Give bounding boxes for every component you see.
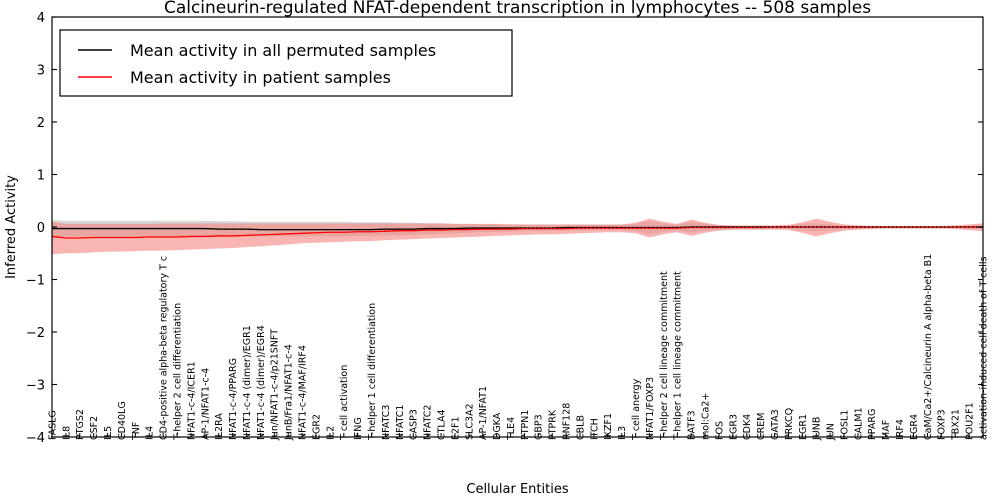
x-tick-label: IL3: [617, 426, 628, 440]
x-tick-label: CD4-positive alpha-beta regulatory T c: [159, 256, 170, 440]
x-tick-label: NFAT1/FOXP3: [645, 377, 656, 440]
x-tick-label: activation-induced cell death of T cells: [978, 257, 989, 440]
y-tick-label: 2: [37, 116, 45, 131]
x-axis-label: Cellular Entities: [466, 482, 568, 497]
x-tick-label: AP-1/NFAT1-c-4: [200, 368, 211, 440]
x-tick-label: GATA3: [770, 409, 781, 440]
y-tick-label: −1: [26, 274, 45, 289]
x-tick-label: NFAT1-c-4/PPARG: [228, 358, 239, 440]
x-tick-label: CALM1: [853, 407, 864, 440]
x-tick-label: FOXP3: [937, 409, 948, 440]
y-axis-label: Inferred Activity: [4, 175, 19, 279]
x-tick-label: GBP3: [534, 414, 545, 440]
x-tick-label: IL8: [61, 426, 72, 440]
x-tick-label: DGKA: [492, 412, 503, 440]
y-tick-label: −2: [26, 326, 45, 341]
x-tick-label: IL2: [325, 426, 336, 440]
x-tick-label: T cell activation: [339, 365, 350, 441]
x-tick-label: PPARG: [867, 409, 878, 440]
x-tick-label: NFATC2: [423, 405, 434, 440]
x-tick-label: BATF3: [687, 410, 698, 440]
x-tick-label: T-helper 2 cell lineage commitment: [659, 271, 670, 441]
x-tick-label: CDK4: [742, 414, 753, 440]
x-tick-label: CD40LG: [117, 401, 128, 440]
legend-label: Mean activity in all permuted samples: [130, 41, 436, 60]
x-tick-label: EGR4: [909, 414, 920, 440]
x-tick-label: T-helper 1 cell differentiation: [367, 303, 378, 441]
x-tick-label: PTPN1: [520, 410, 531, 440]
x-tick-label: IL2RA: [214, 413, 225, 440]
x-tick-label: IL5: [103, 426, 114, 440]
x-tick-label: MAF: [881, 420, 892, 440]
x-tick-label: CASP3: [409, 409, 420, 440]
x-tick-label: IRF4: [895, 419, 906, 440]
legend-label: Mean activity in patient samples: [130, 68, 391, 87]
x-tick-label: PRKCQ: [784, 408, 795, 440]
x-tick-label: PTPRK: [548, 409, 559, 440]
x-tick-label: CBLB: [575, 415, 586, 440]
x-tick-label: TLE4: [506, 417, 517, 441]
x-tick-label: NFAT1-c-4/MAF/IRF4: [298, 345, 309, 440]
x-tick-label: JUNB: [812, 417, 823, 441]
x-tick-label: T-helper 2 cell differentiation: [172, 303, 183, 441]
x-tick-label: POU2F1: [965, 402, 976, 440]
x-tick-label: IFNG: [353, 417, 364, 440]
x-tick-label: T cell anergy: [631, 378, 642, 441]
x-tick-label: JUN: [826, 423, 837, 441]
x-tick-label: CTLA4: [436, 410, 447, 441]
x-tick-label: IL4: [145, 426, 156, 440]
x-tick-label: TNF: [131, 422, 142, 441]
x-tick-label: CaM/Ca2+/Calcineurin A alpha-beta B1: [923, 254, 934, 440]
chart-canvas: Calcineurin-regulated NFAT-dependent tra…: [0, 0, 1000, 500]
y-tick-label: 4: [37, 11, 45, 26]
x-tick-label: ITCH: [589, 418, 600, 440]
x-tick-label: PTGS2: [75, 409, 86, 440]
x-tick-label: NFAT1-c-4 (dimer)/EGR4: [256, 325, 267, 440]
y-tick-label: 1: [37, 169, 45, 184]
x-tick-label: RNF128: [562, 403, 573, 440]
y-tick-label: −4: [26, 431, 45, 446]
chart-title: Calcineurin-regulated NFAT-dependent tra…: [164, 0, 871, 18]
x-tick-label: SLC3A2: [464, 403, 475, 440]
x-tick-label: JunB/Fra1/NFAT1-c-4: [284, 344, 295, 441]
x-tick-label: NFAT1-c-4/ICER1: [186, 361, 197, 440]
y-tick-label: −3: [26, 379, 45, 394]
x-tick-label: E2F1: [450, 416, 461, 440]
x-tick-label: NFATC1: [395, 405, 406, 440]
x-tick-label: NFATC3: [381, 405, 392, 440]
x-tick-label: EGR3: [728, 414, 739, 440]
x-tick-label: EGR2: [311, 414, 322, 440]
x-tick-label: CSF2: [89, 416, 100, 440]
y-tick-label: 3: [37, 64, 45, 79]
x-tick-label: AP-1/NFAT1: [478, 386, 489, 440]
chart-figure: Calcineurin-regulated NFAT-dependent tra…: [0, 0, 1000, 500]
x-tick-label: FOSL1: [839, 410, 850, 440]
x-tick-label: FASLG: [47, 410, 58, 440]
x-tick-label: EGR1: [798, 414, 809, 440]
y-tick-label: 0: [37, 221, 45, 236]
x-tick-label: IKZF1: [603, 413, 614, 440]
x-tick-label: mol:Ca2+: [700, 393, 711, 440]
x-tick-label: NFAT1-c-4 (dimer)/EGR1: [242, 325, 253, 440]
x-tick-label: CREM: [756, 413, 767, 440]
x-tick-label: FOS: [714, 421, 725, 440]
x-tick-label: Jun/NFAT1-c-4/p21SNFT: [270, 329, 281, 441]
x-tick-label: TBX21: [951, 409, 962, 441]
x-tick-label: T-helper 1 cell lineage commitment: [673, 271, 684, 441]
